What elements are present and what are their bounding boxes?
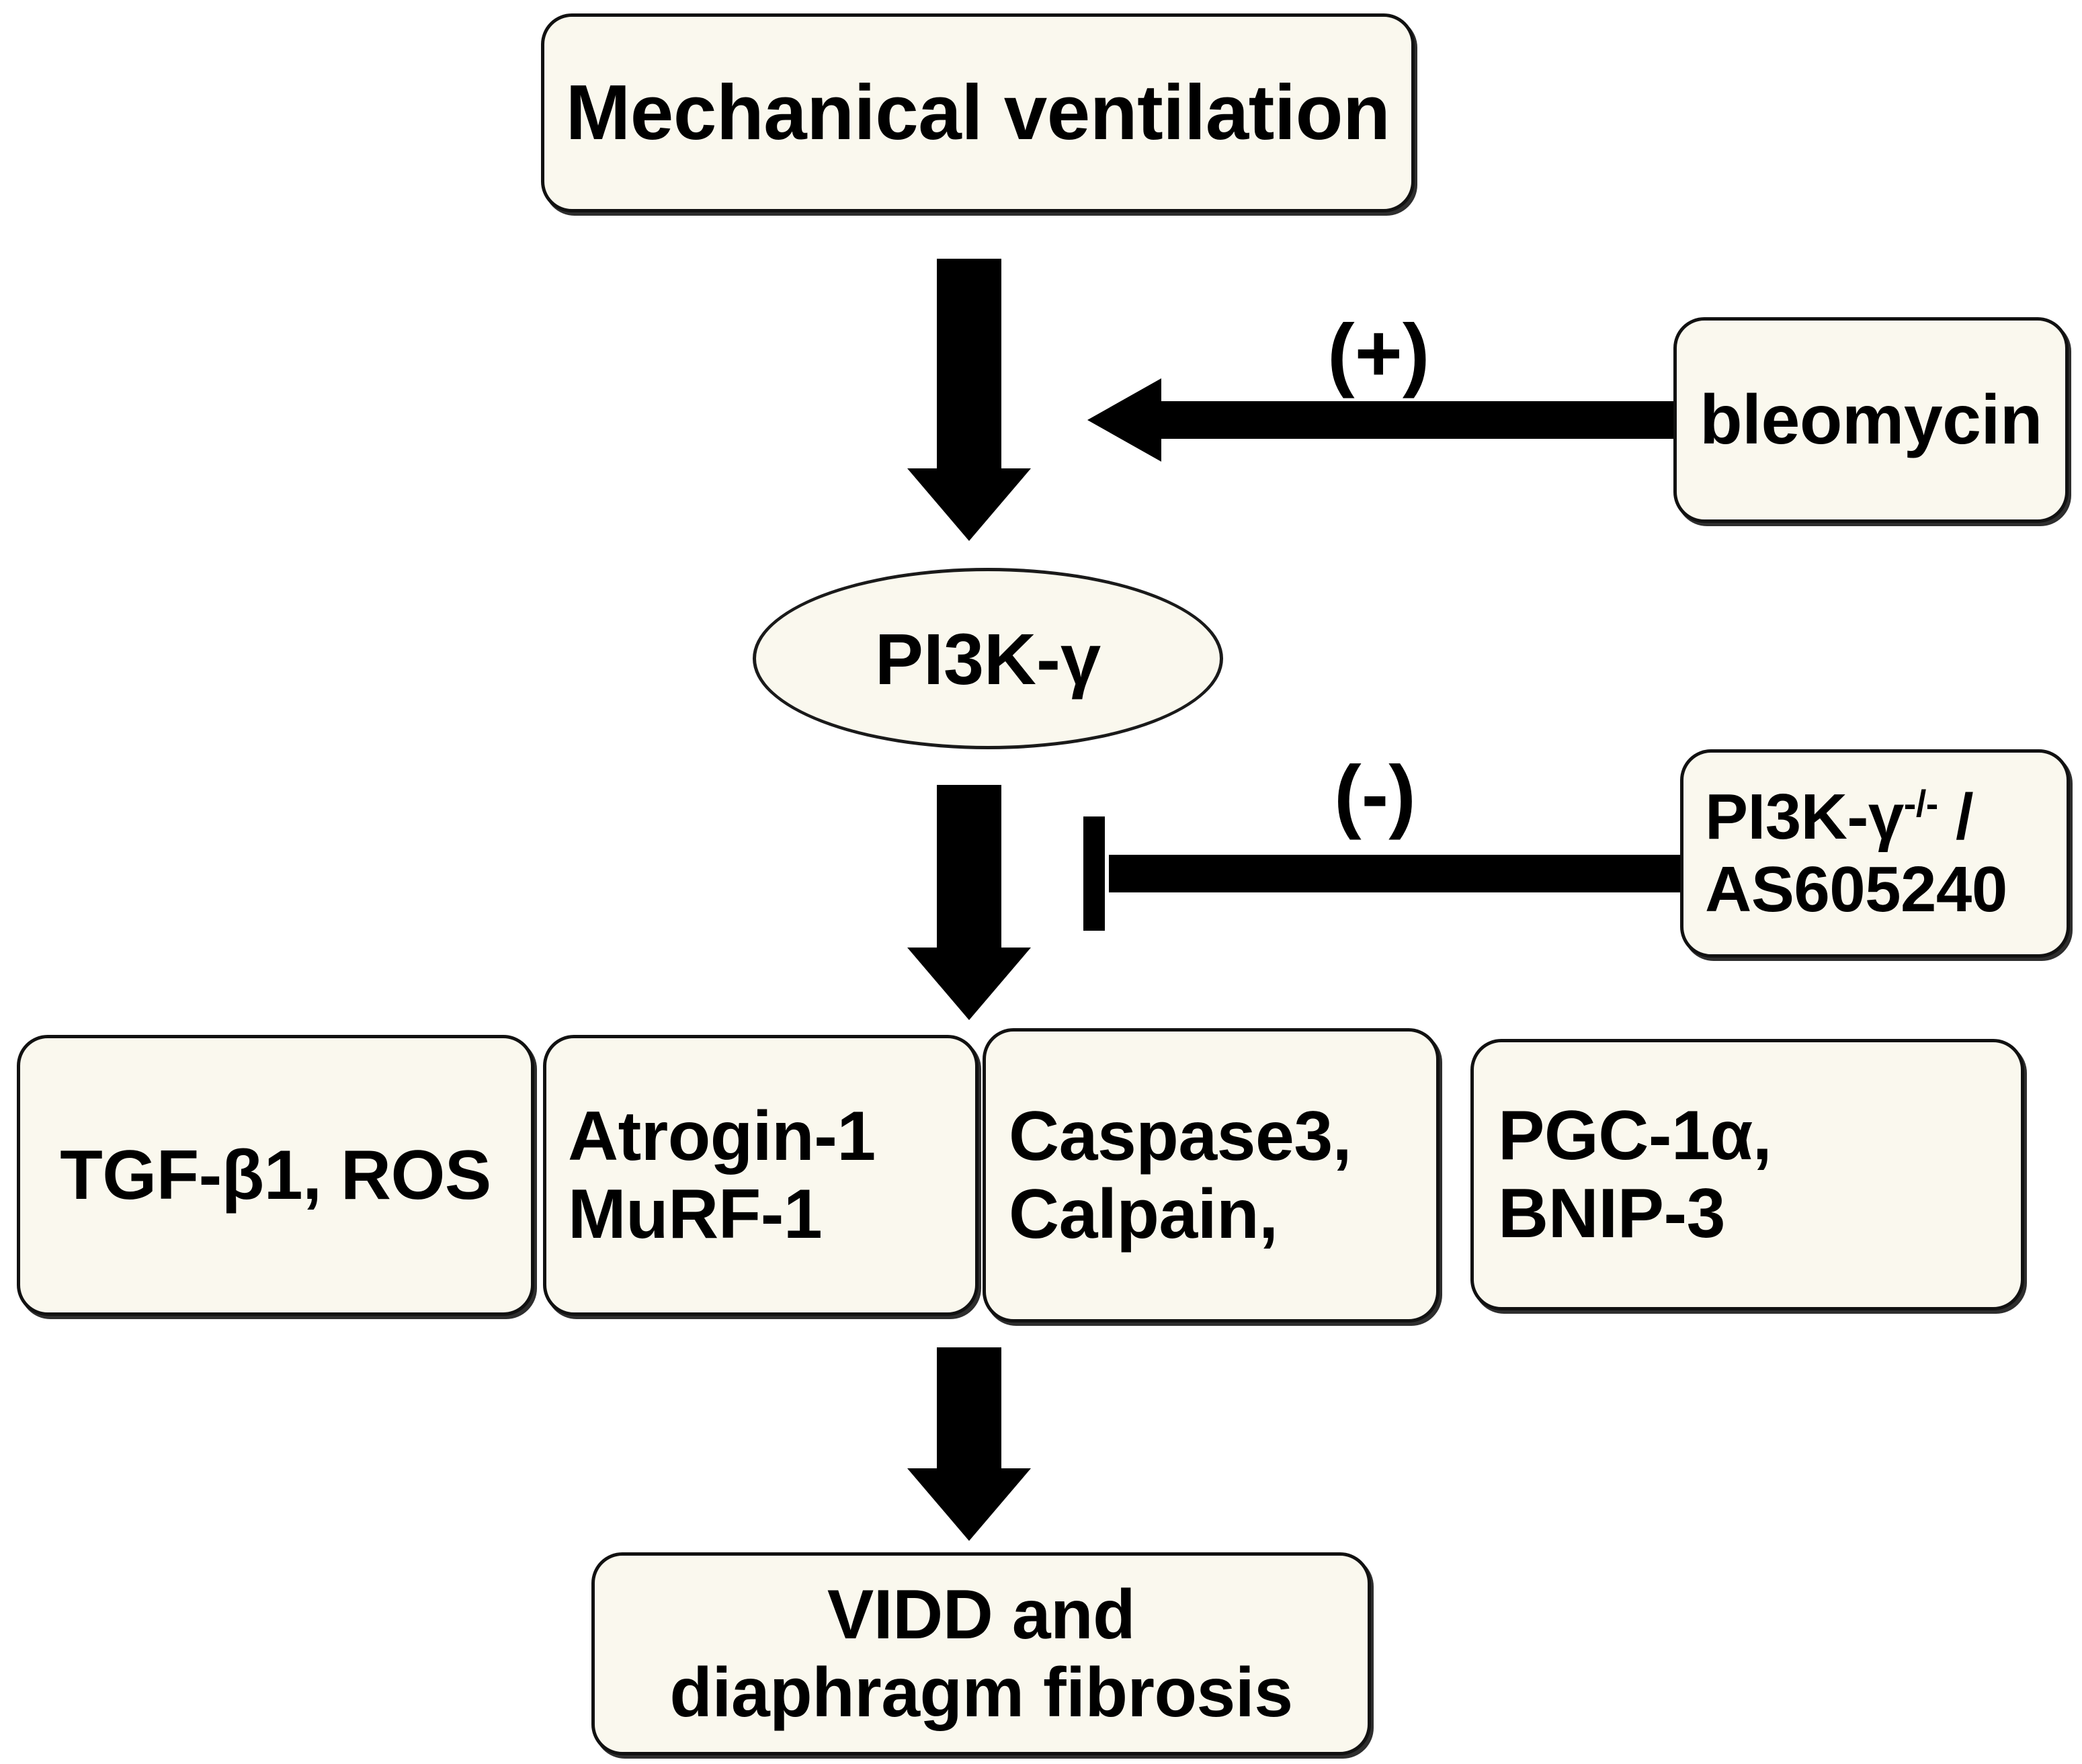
node-inhibitor-line2: AS605240 <box>1705 853 2007 925</box>
node-inhibitor-line1-superscript: -/- <box>1904 783 1938 825</box>
arrow-head <box>907 948 1031 1020</box>
node-effector-mitophagy-markers-line2: BNIP-3 <box>1498 1175 1725 1253</box>
node-inhibitor-line1-main: PI3K-γ <box>1705 781 1904 853</box>
node-bleomycin-label: bleomycin <box>1677 381 2065 459</box>
node-effector-proteases: Caspase3, Calpain, <box>983 1028 1440 1322</box>
arrow-ventilation-to-pi3k <box>907 259 1031 541</box>
node-effector-proteases-line2: Calpain, <box>1009 1175 1278 1253</box>
arrow-pi3k-to-effectors <box>907 785 1031 1020</box>
node-pi3k-gamma: PI3K-γ <box>753 568 1223 749</box>
node-effector-ubiquitin-ligases-line2: MuRF-1 <box>568 1175 822 1253</box>
node-outcome-line2: diaphragm fibrosis <box>669 1654 1292 1732</box>
arrow-shaft <box>937 785 1001 948</box>
node-mechanical-ventilation-label: Mechanical ventilation <box>544 69 1411 157</box>
arrow-shaft <box>937 259 1001 468</box>
node-outcome-vidd: VIDD and diaphragm fibrosis <box>591 1552 1371 1755</box>
node-outcome-line1: VIDD and <box>827 1576 1135 1654</box>
arrow-effectors-to-outcome <box>907 1347 1031 1541</box>
node-effector-ubiquitin-ligases-line1: Atrogin-1 <box>568 1097 876 1175</box>
arrow-head <box>907 1468 1031 1541</box>
inhibition-tbar-icon <box>1083 816 1105 931</box>
node-pi3k-gamma-label: PI3K-γ <box>875 617 1101 701</box>
arrow-shaft <box>937 1347 1001 1468</box>
node-effector-fibrosis-markers: TGF-β1, ROS <box>17 1035 534 1316</box>
node-effector-ubiquitin-ligases: Atrogin-1 MuRF-1 <box>543 1035 978 1316</box>
label-activation-sign: (+) <box>1327 306 1430 400</box>
node-mechanical-ventilation: Mechanical ventilation <box>541 13 1415 212</box>
arrow-head <box>1087 378 1161 462</box>
inhibition-shaft <box>1109 855 1680 892</box>
node-inhibitor-line1-tail: / <box>1938 781 1973 853</box>
node-pi3k-knockout-inhibitor: PI3K-γ-/- / AS605240 <box>1680 749 2070 958</box>
label-inhibition-sign: (-) <box>1334 747 1416 841</box>
arrow-head <box>907 468 1031 541</box>
node-bleomycin: bleomycin <box>1673 317 2069 523</box>
arrow-shaft <box>1161 401 1673 439</box>
node-effector-proteases-line1: Caspase3, <box>1009 1097 1351 1175</box>
node-effector-fibrosis-markers-label: TGF-β1, ROS <box>20 1136 531 1214</box>
node-effector-mitophagy-markers-line1: PGC-1α, <box>1498 1097 1772 1175</box>
pathway-diagram-canvas: Mechanical ventilation bleomycin (+) PI3… <box>0 0 2082 1764</box>
node-effector-mitophagy-markers: PGC-1α, BNIP-3 <box>1470 1039 2024 1310</box>
